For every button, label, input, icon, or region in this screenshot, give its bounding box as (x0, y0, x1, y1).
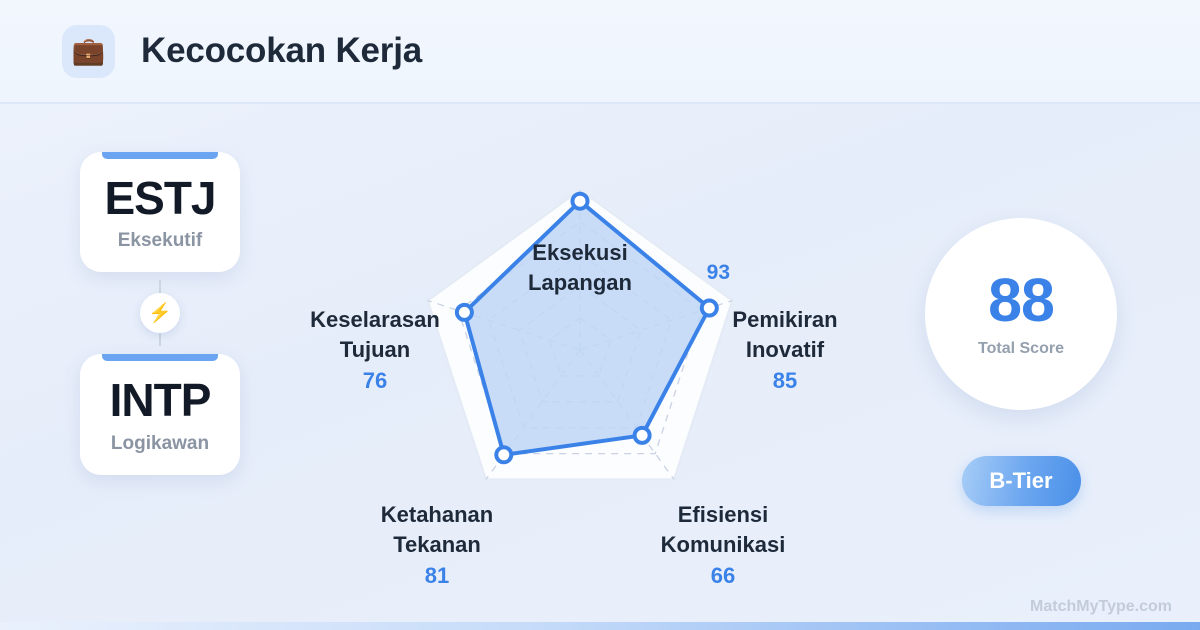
mbti-name-first: Eksekutif (80, 230, 240, 252)
mbti-name-second: Logikawan (80, 433, 240, 455)
axis-value: 93 (707, 259, 730, 287)
watermark: MatchMyType.com (1030, 598, 1172, 616)
radar-axis-label-1: EksekusiLapangan93 (470, 238, 690, 297)
infographic-page: 💼 Kecocokan Kerja ESTJ Eksekutif ⚡ INTP … (0, 0, 1200, 630)
radar-point-3 (635, 428, 650, 443)
axis-value: 76 (265, 366, 485, 396)
radar-axis-label-3: EfisiensiKomunikasi66 (613, 500, 833, 591)
briefcase-icon: 💼 (62, 25, 115, 78)
header-bar: 💼 Kecocokan Kerja (0, 0, 1200, 104)
axis-label-line2: Tekanan (327, 530, 547, 560)
radar-chart: EksekusiLapangan93PemikiranInovatif85Efi… (300, 110, 860, 610)
page-title: Kecocokan Kerja (141, 31, 422, 71)
axis-label-line1: Eksekusi (470, 238, 690, 268)
axis-label-line2: Lapangan (470, 268, 690, 298)
axis-value: 81 (327, 561, 547, 591)
total-score-value: 88 (988, 270, 1054, 331)
axis-label-line1: Pemikiran (675, 305, 895, 335)
lightning-bolt-icon: ⚡ (140, 293, 180, 333)
mbti-code-first: ESTJ (80, 174, 240, 222)
axis-value: 66 (613, 561, 833, 591)
pair-connector: ⚡ (80, 272, 240, 354)
card-accent-bar (102, 354, 218, 361)
radar-axis-label-5: KeselarasanTujuan76 (265, 305, 485, 396)
axis-label-line1: Keselarasan (265, 305, 485, 335)
axis-label-line2: Komunikasi (613, 530, 833, 560)
card-accent-bar (102, 152, 218, 159)
radar-point-4 (496, 447, 511, 462)
radar-axis-label-4: KetahananTekanan81 (327, 500, 547, 591)
mbti-card-first[interactable]: ESTJ Eksekutif (80, 152, 240, 272)
axis-label-line2: Tujuan (265, 335, 485, 365)
axis-label-line2: Inovatif (675, 335, 895, 365)
mbti-pair-column: ESTJ Eksekutif ⚡ INTP Logikawan (80, 152, 240, 475)
lightning-bolt-glyph: ⚡ (148, 304, 172, 323)
score-column: 88 Total Score B-Tier (925, 218, 1117, 506)
tier-badge: B-Tier (962, 456, 1081, 506)
axis-value: 85 (675, 366, 895, 396)
mbti-card-second[interactable]: INTP Logikawan (80, 354, 240, 474)
bottom-accent-bar (0, 622, 1200, 630)
briefcase-glyph: 💼 (72, 38, 106, 65)
total-score-badge: 88 Total Score (925, 218, 1117, 410)
axis-label-line1: Efisiensi (613, 500, 833, 530)
radar-axis-label-2: PemikiranInovatif85 (675, 305, 895, 396)
axis-label-line1: Ketahanan (327, 500, 547, 530)
mbti-code-second: INTP (80, 376, 240, 424)
total-score-caption: Total Score (978, 340, 1064, 358)
radar-point-1 (573, 194, 588, 209)
